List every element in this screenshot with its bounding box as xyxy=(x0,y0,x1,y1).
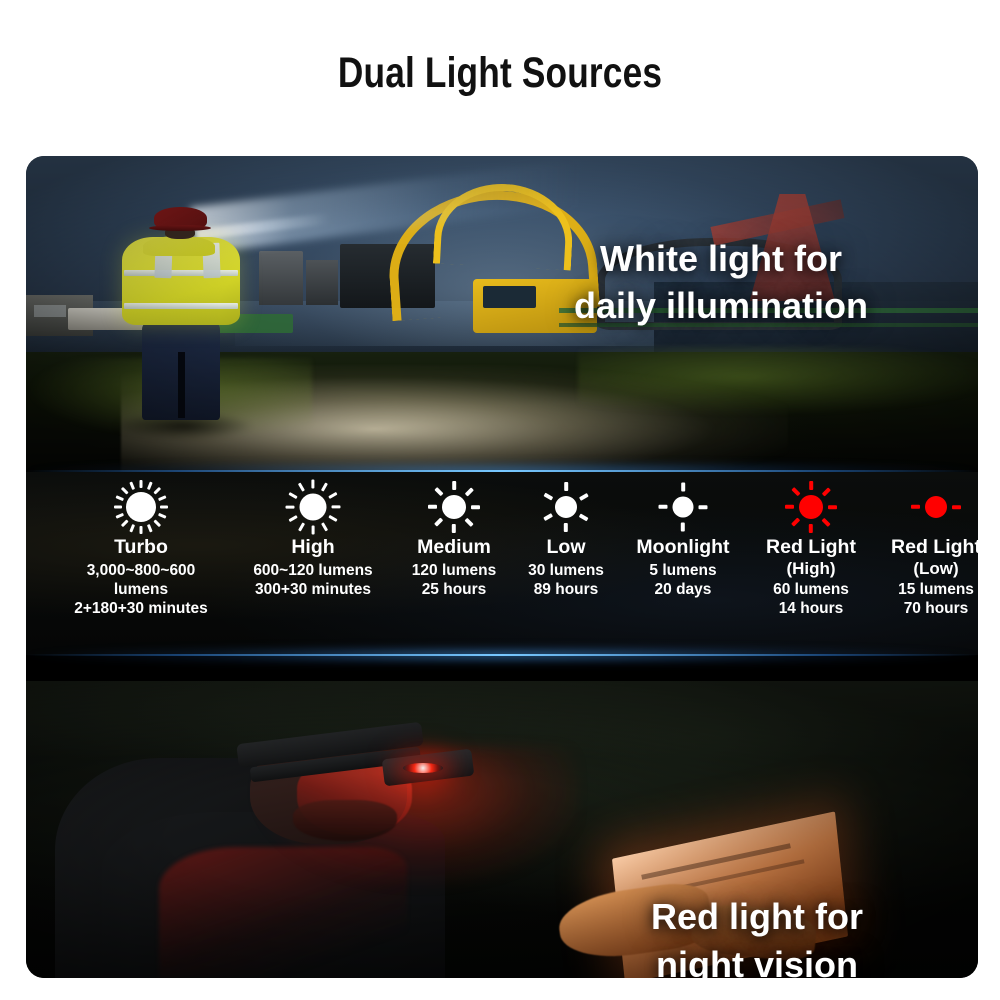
white-light-caption: White light for daily illumination xyxy=(506,236,936,330)
mode-turbo: Turbo3,000~800~600lumens2+180+30 minutes xyxy=(48,480,234,619)
mode-spec-line: 30 lumens xyxy=(506,562,626,581)
sun-ray xyxy=(785,505,794,509)
sun-disc xyxy=(925,496,947,518)
sun-ray xyxy=(321,482,328,491)
mode-red-light-high: Red Light(High)60 lumens14 hours xyxy=(745,480,877,619)
sun-ray xyxy=(147,524,153,533)
mode-icon-wrap xyxy=(225,480,401,534)
sun-ray xyxy=(699,505,708,509)
sun-disc xyxy=(555,496,577,518)
mode-spec-line: lumens xyxy=(48,581,234,600)
sun-disc xyxy=(300,494,327,521)
sun-ray xyxy=(465,518,474,527)
sun-ray xyxy=(114,506,122,509)
sun-disc xyxy=(673,497,694,518)
mode-icon-wrap xyxy=(48,480,234,534)
sun-ray xyxy=(311,480,314,489)
sun-ray xyxy=(659,505,668,509)
sun-ray xyxy=(160,506,168,509)
sun-ray xyxy=(158,513,167,519)
sun-ray xyxy=(681,483,685,492)
red-light-caption-line-2: night vision xyxy=(572,941,942,978)
mode-spec-line: 25 hours xyxy=(384,581,524,600)
mode-spec-line: 60 lumens xyxy=(745,581,877,600)
red-light-caption-line-1: Red light for xyxy=(572,893,942,941)
mode-spec-line: 2+180+30 minutes xyxy=(48,600,234,619)
sun-ray xyxy=(434,518,443,527)
mode-spec-line: 15 lumens xyxy=(873,581,978,600)
sun-ray xyxy=(328,515,337,522)
sun-ray xyxy=(579,493,589,501)
mode-spec-line: 600~120 lumens xyxy=(225,562,401,581)
sun-ray xyxy=(288,492,297,499)
white-light-photo: White light for daily illumination xyxy=(26,156,978,472)
red-light-caption: Red light for night vision xyxy=(572,893,942,978)
sun-ray xyxy=(298,482,305,491)
mode-icon-wrap xyxy=(384,480,524,534)
mode-specs: 60 lumens14 hours xyxy=(745,581,877,619)
mode-specs: 600~120 lumens300+30 minutes xyxy=(225,562,401,600)
sun-ray xyxy=(129,481,135,490)
mode-high: High600~120 lumens300+30 minutes xyxy=(225,480,401,600)
mode-spec-line: 300+30 minutes xyxy=(225,581,401,600)
sun-ray xyxy=(153,487,161,495)
sun-icon-low xyxy=(541,482,591,532)
sun-ray xyxy=(147,481,153,490)
sun-ray xyxy=(564,523,568,532)
mode-spec-line: 70 hours xyxy=(873,600,978,619)
sun-icon-red-high xyxy=(785,481,837,533)
sun-disc xyxy=(799,495,823,519)
sun-ray xyxy=(286,505,295,508)
sun-ray xyxy=(332,505,341,508)
mode-name: Red Light xyxy=(745,537,877,559)
sun-icon-red-low xyxy=(911,482,961,532)
sun-ray xyxy=(952,505,961,509)
sun-disc xyxy=(442,495,466,519)
sun-ray xyxy=(153,519,161,527)
light-mode-strip: Turbo3,000~800~600lumens2+180+30 minutes… xyxy=(26,472,978,655)
sun-ray xyxy=(791,518,800,527)
sun-ray xyxy=(822,487,831,496)
sun-ray xyxy=(809,524,813,533)
sun-ray xyxy=(579,513,589,521)
sun-ray xyxy=(452,481,456,490)
sun-ray xyxy=(681,523,685,532)
sun-ray xyxy=(140,526,143,534)
mode-icon-wrap xyxy=(873,480,978,534)
mode-specs: 15 lumens70 hours xyxy=(873,581,978,619)
sun-icon-moonlight xyxy=(659,483,708,532)
mode-sub-label: (Low) xyxy=(873,559,978,578)
mode-icon-wrap xyxy=(745,480,877,534)
mode-sub-label: (High) xyxy=(745,559,877,578)
mode-red-light-low: Red Light(Low)15 lumens70 hours xyxy=(873,480,978,619)
sun-ray xyxy=(298,522,305,531)
sun-ray xyxy=(434,487,443,496)
sun-ray xyxy=(465,487,474,496)
mode-spec-line: 5 lumens xyxy=(613,562,753,581)
sun-icon-turbo xyxy=(112,478,170,536)
sun-ray xyxy=(452,524,456,533)
sun-ray xyxy=(543,513,553,521)
mode-spec-line: 120 lumens xyxy=(384,562,524,581)
mode-name: High xyxy=(225,537,401,559)
mode-list: Turbo3,000~800~600lumens2+180+30 minutes… xyxy=(26,472,978,655)
sun-ray xyxy=(121,487,129,495)
sun-ray xyxy=(564,482,568,491)
sun-ray xyxy=(158,495,167,501)
mode-moonlight: Moonlight5 lumens20 days xyxy=(613,480,753,600)
mode-specs: 3,000~800~600lumens2+180+30 minutes xyxy=(48,562,234,619)
mode-name: Turbo xyxy=(48,537,234,559)
mode-medium: Medium120 lumens25 hours xyxy=(384,480,524,600)
sun-ray xyxy=(115,495,124,501)
sun-ray xyxy=(809,481,813,490)
sun-ray xyxy=(828,505,837,509)
sun-ray xyxy=(428,505,437,509)
separator-bottom xyxy=(26,643,978,669)
sun-ray xyxy=(543,493,553,501)
mode-spec-line: 14 hours xyxy=(745,600,877,619)
white-light-caption-line-2: daily illumination xyxy=(506,283,936,330)
mode-icon-wrap xyxy=(613,480,753,534)
sun-ray xyxy=(115,513,124,519)
mode-icon-wrap xyxy=(506,480,626,534)
sun-icon-medium xyxy=(428,481,480,533)
mode-spec-line: 3,000~800~600 xyxy=(48,562,234,581)
sun-ray xyxy=(121,519,129,527)
sun-ray xyxy=(311,526,314,535)
sun-icon-high xyxy=(286,480,341,535)
mode-name: Low xyxy=(506,537,626,559)
sun-ray xyxy=(288,515,297,522)
mode-name: Moonlight xyxy=(613,537,753,559)
sun-disc xyxy=(126,492,156,522)
sun-ray xyxy=(129,524,135,533)
sun-ray xyxy=(471,505,480,509)
sun-ray xyxy=(328,492,337,499)
mode-specs: 5 lumens20 days xyxy=(613,562,753,600)
sun-ray xyxy=(822,518,831,527)
white-light-caption-line-1: White light for xyxy=(506,236,936,283)
mode-spec-line: 20 days xyxy=(613,581,753,600)
mode-specs: 120 lumens25 hours xyxy=(384,562,524,600)
red-light-photo: Red light for night vision xyxy=(26,681,978,978)
sun-ray xyxy=(140,480,143,488)
separator-line xyxy=(26,654,978,656)
sun-ray xyxy=(911,505,920,509)
mode-name: Red Light xyxy=(873,537,978,559)
mode-spec-line: 89 hours xyxy=(506,581,626,600)
page-title: Dual Light Sources xyxy=(90,49,910,98)
sun-ray xyxy=(321,522,328,531)
content-panel: White light for daily illumination Turbo… xyxy=(26,156,978,978)
sun-ray xyxy=(791,487,800,496)
mode-specs: 30 lumens89 hours xyxy=(506,562,626,600)
mode-name: Medium xyxy=(384,537,524,559)
mode-low: Low30 lumens89 hours xyxy=(506,480,626,600)
product-feature-page: Dual Light Sources xyxy=(0,0,1000,1000)
